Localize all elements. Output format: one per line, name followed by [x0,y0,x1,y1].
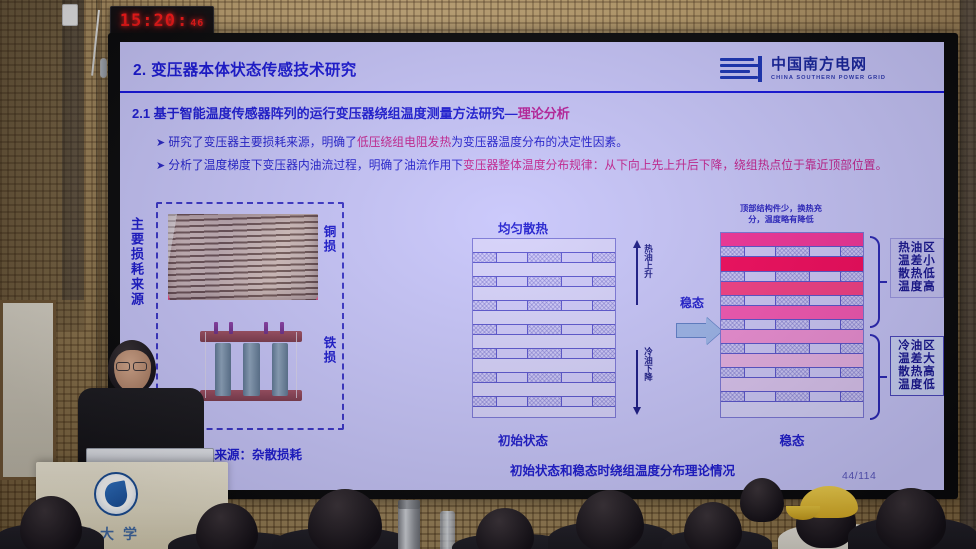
subtitle-main: 2.1 基于智能温度传感器阵列的运行变压器绕组温度测量方法研究— [132,106,518,121]
csg-logo-mark [720,54,764,84]
bullet-item-2: ➤分析了温度梯度下变压器内油流过程，明确了油流作用下变压器整体温度分布规律：从下… [156,158,922,175]
csg-logo-cn: 中国南方电网 [771,57,886,73]
clock-time: 15:20 [120,13,176,30]
thermos-cap [398,500,420,509]
winding-initial-state [472,238,616,418]
audience-head [740,478,784,522]
bullet-item-1: ➤研究了变压器主要损耗来源，明确了低压绕组电阻发热为变压器温度分布的决定性因素。 [156,135,926,152]
bullet-1-part-1: 研究了变压器主要损耗来源，明确了 [168,136,357,149]
slide-page-number: 44/114 [842,470,876,482]
bullet-arrow-icon: ➤ [156,137,165,149]
copper-loss-label: 铜损 [322,225,335,254]
stray-loss-label: 耗来源：杂散损耗 [202,444,302,463]
slide-title: 2. 变压器本体状态传感技术研究 [133,58,357,80]
slide-caption: 初始状态和稳态时绕组温度分布理论情况 [510,460,735,479]
csg-logo-text: 中国南方电网 CHINA SOUTHERN POWER GRID [771,57,886,81]
title-divider [120,91,944,93]
cold-zone-brace [870,334,880,420]
slide-surface: 2. 变压器本体状态传感技术研究 中国南方电网 CHINA SOUTHERN P… [120,42,944,490]
hot-zone-callout: 热油区温差小散热低温度高 [890,238,944,298]
clock-digits: 15:20 : 46 [120,13,204,30]
wall-switch-plate [62,4,78,26]
transition-arrow-icon [676,323,708,338]
initial-state-label: 初始状态 [468,430,578,449]
thermos-flask [398,506,420,549]
csg-logo: 中国南方电网 CHINA SOUTHERN POWER GRID [720,54,886,84]
steady-state-transition-label: 稳态 [680,294,704,311]
presenter-glasses-right [133,362,147,371]
uniform-heat-label: 均匀散热 [468,218,578,237]
hot-zone-brace-tick [880,281,887,283]
hot-oil-rise-label: 热油上升 [644,244,653,278]
right-wall-edge [960,0,976,549]
loss-source-vertical-label: 主要损耗来源 [130,217,143,307]
iron-loss-label: 铁损 [322,336,335,365]
cold-oil-fall-label: 冷油下降 [644,347,653,381]
bullet-2-part-2: 变压器整体温度分布规律：从下向上先上升后下降，绕组热点位于靠近顶部位置。 [463,159,887,172]
copper-winding-photo [168,214,318,300]
bullet-arrow-icon: ➤ [156,160,165,172]
hot-zone-brace [870,236,880,328]
emblem-drop-icon [103,480,129,508]
cold-zone-brace-tick [880,376,887,378]
clock-seconds: 46 [190,19,204,29]
presenter-glasses-left [116,362,130,371]
hanging-sensor [100,58,107,78]
top-structure-note: 顶部结构件少，换热充分，温度略有降低 [686,204,876,225]
wall-clock: 15:20 : 46 [110,6,214,36]
clock-colon: : [177,13,188,30]
screenshot-root: 15:20 : 46 2. 变压器本体状态传感技术研究 中国南方电网 [0,0,976,549]
bullet-2-part-1: 分析了温度梯度下变压器内油流过程，明确了油流作用下 [168,159,463,172]
wall-dark-strip [62,0,84,300]
subtitle-emphasis: 理论分析 [518,106,570,121]
cold-oil-fall-arrow [636,350,638,408]
transformer-core-photo [196,322,306,408]
university-emblem [94,472,138,516]
winding-steady-state [720,232,864,418]
csg-logo-en: CHINA SOUTHERN POWER GRID [771,75,886,81]
slide-subtitle: 2.1 基于智能温度传感器阵列的运行变压器绕组温度测量方法研究—理论分析 [132,103,570,122]
bullet-1-part-2: 低压绕组电阻发热 [357,136,451,149]
hot-oil-rise-arrow [636,247,638,305]
steady-state-label: 稳态 [737,430,847,449]
cold-zone-callout: 冷油区温差大散热高温度低 [890,336,944,396]
bullet-1-part-3: 为变压器温度分布的决定性因素。 [451,136,628,149]
